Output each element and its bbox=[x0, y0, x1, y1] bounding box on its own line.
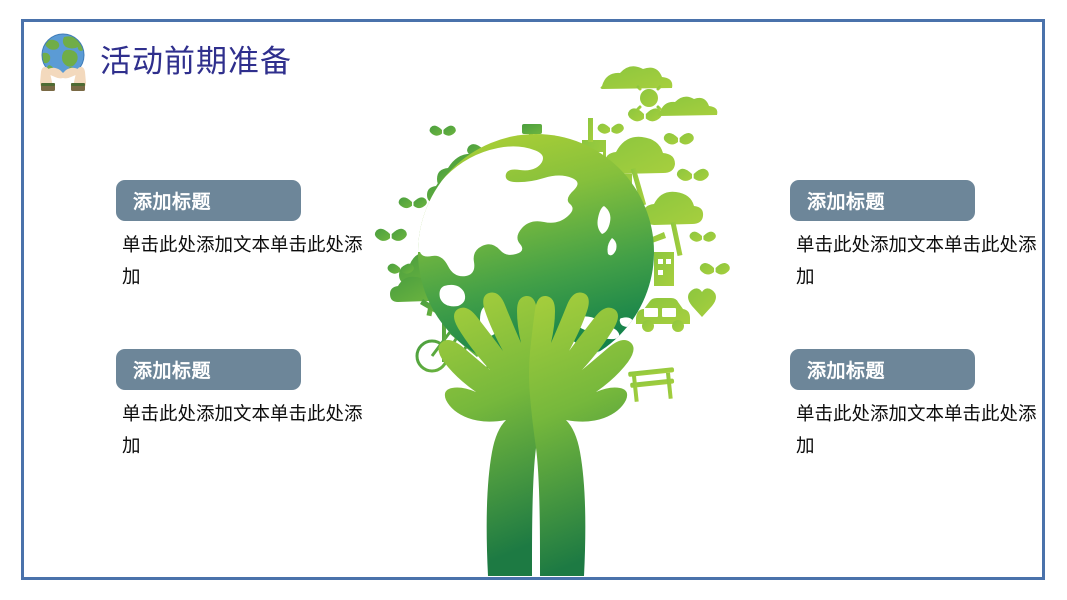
earth-in-hands-icon bbox=[30, 27, 96, 97]
block-heading-top-right[interactable]: 添加标题 bbox=[790, 180, 975, 221]
block-heading-bottom-left[interactable]: 添加标题 bbox=[116, 349, 301, 390]
green-earth-in-hands-illustration bbox=[336, 56, 736, 576]
block-heading-top-left[interactable]: 添加标题 bbox=[116, 180, 301, 221]
page-title: 活动前期准备 bbox=[100, 47, 292, 78]
slide: 活动前期准备 bbox=[0, 0, 1067, 600]
block-heading-bottom-right[interactable]: 添加标题 bbox=[790, 349, 975, 390]
block-body-top-left[interactable]: 单击此处添加文本单击此处添加 bbox=[116, 230, 372, 294]
info-block-bottom-right: 添加标题 单击此处添加文本单击此处添加 bbox=[790, 349, 1030, 463]
info-block-top-left: 添加标题 单击此处添加文本单击此处添加 bbox=[116, 180, 356, 294]
info-block-bottom-left: 添加标题 单击此处添加文本单击此处添加 bbox=[116, 349, 356, 463]
decor-clouds-sun bbox=[601, 66, 718, 116]
hands bbox=[438, 293, 633, 577]
block-body-bottom-left[interactable]: 单击此处添加文本单击此处添加 bbox=[116, 399, 372, 463]
block-body-top-right[interactable]: 单击此处添加文本单击此处添加 bbox=[790, 230, 1046, 294]
block-body-bottom-right[interactable]: 单击此处添加文本单击此处添加 bbox=[790, 399, 1046, 463]
slide-header: 活动前期准备 bbox=[30, 26, 292, 98]
info-block-top-right: 添加标题 单击此处添加文本单击此处添加 bbox=[790, 180, 1030, 294]
